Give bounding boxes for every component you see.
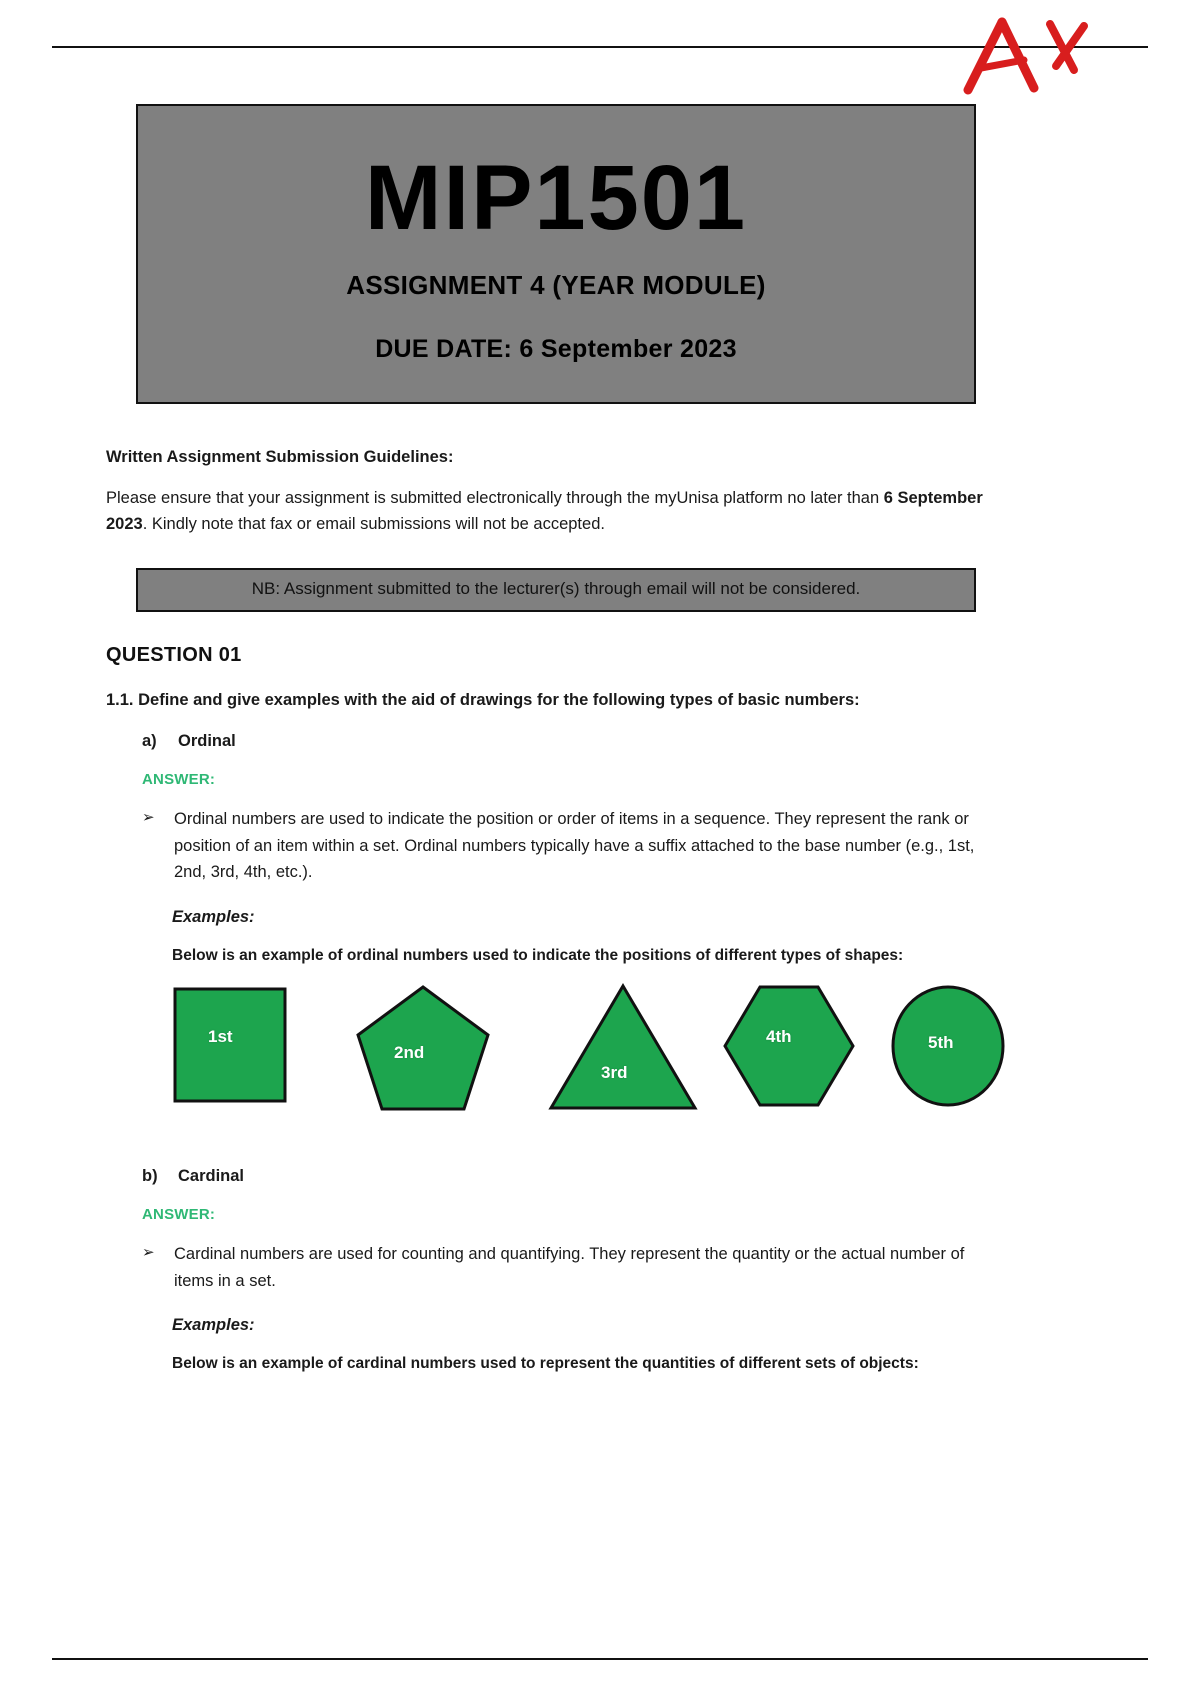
question-heading: QUESTION 01 [106, 644, 998, 667]
guidelines-text-after: . Kindly note that fax or email submissi… [143, 515, 605, 533]
assignment-line: ASSIGNMENT 4 (YEAR MODULE) [148, 270, 964, 301]
answer-bullet-a-text: Ordinal numbers are used to indicate the… [174, 806, 998, 886]
answer-bullet-a: ➢ Ordinal numbers are used to indicate t… [142, 806, 998, 886]
shape-triangle: 3rd [548, 983, 698, 1111]
module-title-banner: MIP1501 ASSIGNMENT 4 (YEAR MODULE) DUE D… [136, 104, 976, 404]
arrow-bullet-icon: ➢ [142, 806, 158, 886]
answer-label-a: ANSWER: [142, 771, 998, 788]
shape-label-1st: 1st [208, 1027, 233, 1047]
examples-label-a: Examples: [172, 908, 998, 927]
sub-item-b-title: Cardinal [178, 1167, 244, 1186]
shape-label-2nd: 2nd [394, 1043, 424, 1063]
shape-square: 1st [172, 983, 288, 1111]
shape-label-5th: 5th [928, 1033, 954, 1053]
answer-label-b: ANSWER: [142, 1206, 998, 1223]
shape-label-3rd: 3rd [601, 1063, 627, 1083]
arrow-bullet-icon: ➢ [142, 1241, 158, 1294]
due-date-line: DUE DATE: 6 September 2023 [148, 335, 964, 364]
ordinal-shapes-row: 1st 2nd 3rd 4th [172, 983, 998, 1111]
answer-bullet-b-text: Cardinal numbers are used for counting a… [174, 1241, 998, 1294]
page-bottom-rule [52, 1658, 1148, 1660]
guidelines-text-before: Please ensure that your assignment is su… [106, 489, 884, 507]
sub-item-b: b) Cardinal [142, 1167, 998, 1186]
shape-label-4th: 4th [766, 1027, 792, 1047]
examples-caption-a: Below is an example of ordinal numbers u… [172, 947, 998, 965]
module-code: MIP1501 [148, 152, 964, 244]
examples-caption-b: Below is an example of cardinal numbers … [172, 1355, 998, 1373]
examples-label-b: Examples: [172, 1316, 998, 1335]
shape-hexagon: 4th [722, 983, 856, 1111]
shape-pentagon: 2nd [354, 983, 492, 1111]
answer-bullet-b: ➢ Cardinal numbers are used for counting… [142, 1241, 998, 1294]
document-page: MIP1501 ASSIGNMENT 4 (YEAR MODULE) DUE D… [0, 0, 1200, 1700]
guidelines-body: Please ensure that your assignment is su… [106, 485, 998, 538]
sub-item-a: a) Ordinal [142, 732, 998, 751]
document-content: MIP1501 ASSIGNMENT 4 (YEAR MODULE) DUE D… [106, 0, 998, 1373]
sub-item-a-title: Ordinal [178, 732, 236, 751]
shape-circle: 5th [890, 983, 1006, 1111]
question-prompt: 1.1. Define and give examples with the a… [106, 691, 998, 710]
sub-item-b-marker: b) [142, 1167, 160, 1186]
guidelines-heading: Written Assignment Submission Guidelines… [106, 448, 998, 467]
sub-item-a-marker: a) [142, 732, 160, 751]
nb-notice-bar: NB: Assignment submitted to the lecturer… [136, 568, 976, 612]
